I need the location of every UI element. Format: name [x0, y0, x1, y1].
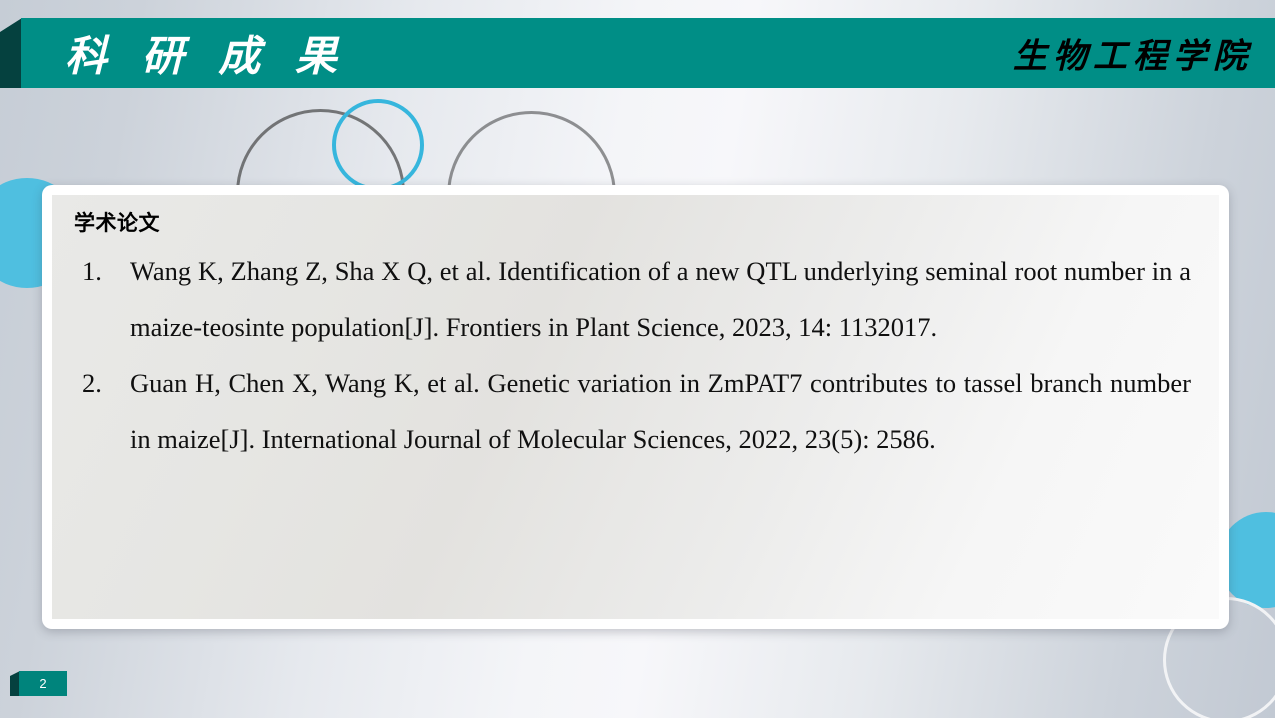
card-title: 学术论文: [74, 207, 1199, 237]
reference-number: 1.: [74, 243, 130, 299]
organization-name: 生物工程学院: [1013, 29, 1253, 78]
header-banner: 科 研 成 果 生物工程学院: [0, 18, 1275, 88]
content-card: 学术论文 1. Wang K, Zhang Z, Sha X Q, et al.…: [42, 185, 1229, 629]
reference-text: Wang K, Zhang Z, Sha X Q, et al. Identif…: [130, 243, 1199, 355]
list-item: 1. Wang K, Zhang Z, Sha X Q, et al. Iden…: [74, 243, 1199, 355]
reference-number: 2.: [74, 355, 130, 411]
slide: 科 研 成 果 生物工程学院 学术论文 1. Wang K, Zhang Z, …: [0, 0, 1275, 718]
list-item: 2. Guan H, Chen X, Wang K, et al. Geneti…: [74, 355, 1199, 467]
reference-list: 1. Wang K, Zhang Z, Sha X Q, et al. Iden…: [74, 243, 1199, 467]
page-title: 科 研 成 果: [65, 23, 347, 84]
blue-ring-circle: [332, 99, 424, 191]
page-number-value: 2: [19, 671, 67, 696]
content-card-inner: 学术论文 1. Wang K, Zhang Z, Sha X Q, et al.…: [52, 195, 1219, 619]
header-bar: 科 研 成 果 生物工程学院: [21, 18, 1275, 88]
header-fold-shape: [0, 18, 22, 88]
reference-text: Guan H, Chen X, Wang K, et al. Genetic v…: [130, 355, 1199, 467]
